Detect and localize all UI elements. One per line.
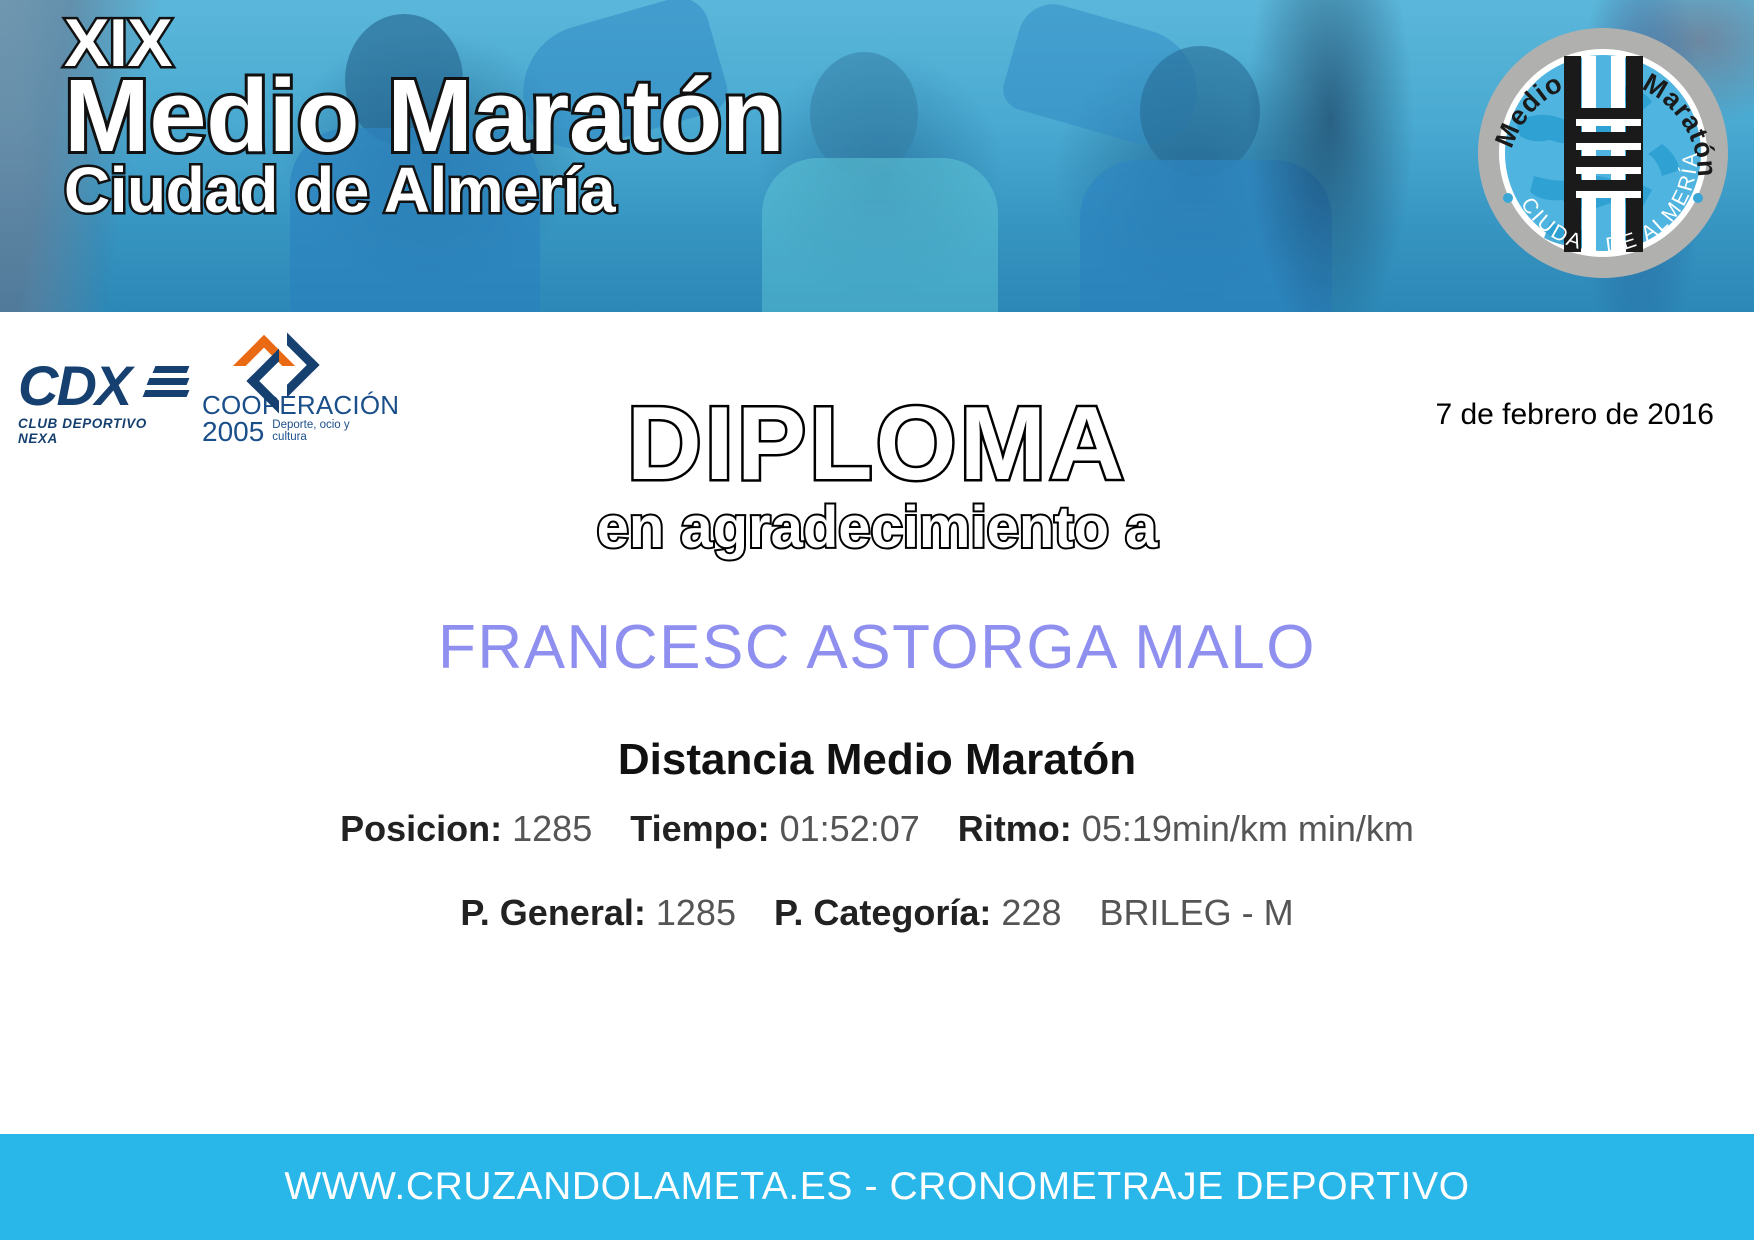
results-line-2: P. General: 1285 P. Categoría: 228 BRILE… — [0, 892, 1754, 934]
page-title: DIPLOMA — [0, 392, 1754, 496]
race-logo: Medio Maratón CIUDAD DE ALMERÍA — [1476, 26, 1730, 280]
footer-website-text: WWW.CRUZANDOLAMETA.ES - CRONOMETRAJE DEP… — [284, 1165, 1469, 1209]
results-block: Posicion: 1285 Tiempo: 01:52:07 Ritmo: 0… — [0, 808, 1754, 976]
time-value: 01:52:07 — [780, 808, 920, 849]
header-banner: XIX Medio Maratón Ciudad de Almería — [0, 0, 1754, 312]
category-position-label: P. Categoría: — [774, 892, 991, 933]
position-label: Posicion: — [340, 808, 502, 849]
time-label: Tiempo: — [630, 808, 769, 849]
pace-label: Ritmo: — [958, 808, 1072, 849]
general-position-value: 1285 — [656, 892, 736, 933]
event-title: Medio Maratón — [64, 69, 784, 164]
general-position-label: P. General: — [460, 892, 645, 933]
footer-bar: WWW.CRUZANDOLAMETA.ES - CRONOMETRAJE DEP… — [0, 1134, 1754, 1240]
cooperacion-diamond-icon — [242, 340, 308, 390]
position-value: 1285 — [512, 808, 592, 849]
category-name: BRILEG - M — [1100, 892, 1294, 933]
event-title-block: XIX Medio Maratón Ciudad de Almería — [64, 12, 784, 220]
distance-label: Distancia Medio Maratón — [0, 735, 1754, 785]
diploma-heading-block: DIPLOMA en agradecimiento a — [0, 392, 1754, 559]
category-position-value: 228 — [1001, 892, 1061, 933]
diploma-subtitle: en agradecimiento a — [0, 498, 1754, 559]
pace-value: 05:19min/km min/km — [1082, 808, 1414, 849]
athlete-name: FRANCESC ASTORGA MALO — [0, 612, 1754, 683]
results-line-1: Posicion: 1285 Tiempo: 01:52:07 Ritmo: 0… — [0, 808, 1754, 850]
